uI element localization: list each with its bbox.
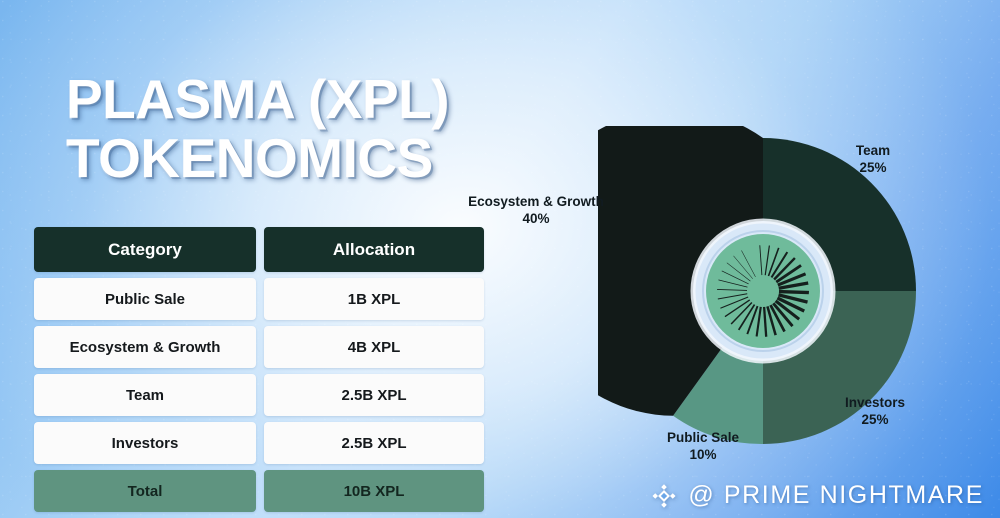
cell-allocation: 4B XPL xyxy=(264,326,484,368)
table-total-row: Total 10B XPL xyxy=(34,470,484,512)
cell-total-value: 10B XPL xyxy=(264,470,484,512)
table-header-row: Category Allocation xyxy=(34,227,484,272)
table-row: Ecosystem & Growth 4B XPL xyxy=(34,326,484,368)
chart-label-team: Team 25% xyxy=(828,142,918,176)
chart-label-investors: Investors 25% xyxy=(820,394,930,428)
cell-category: Investors xyxy=(34,422,256,464)
cell-allocation: 1B XPL xyxy=(264,278,484,320)
header-allocation: Allocation xyxy=(264,227,484,272)
cell-allocation: 2.5B XPL xyxy=(264,422,484,464)
chart-label-team-name: Team xyxy=(828,142,918,159)
title-line-2: TOKENOMICS xyxy=(66,129,536,188)
cell-category: Public Sale xyxy=(34,278,256,320)
chart-label-public-sale-percent: 10% xyxy=(643,446,763,463)
cell-category: Ecosystem & Growth xyxy=(34,326,256,368)
binance-diamond-icon xyxy=(650,482,678,510)
header-category: Category xyxy=(34,227,256,272)
title-line-1: PLASMA (XPL) xyxy=(66,70,536,129)
table-row: Investors 2.5B XPL xyxy=(34,422,484,464)
tokenomics-table: Category Allocation Public Sale 1B XPL E… xyxy=(34,227,484,518)
chart-label-public-sale-name: Public Sale xyxy=(643,429,763,446)
table-row: Public Sale 1B XPL xyxy=(34,278,484,320)
chart-label-investors-percent: 25% xyxy=(820,411,930,428)
chart-label-ecosystem-name: Ecosystem & Growth xyxy=(446,193,626,210)
chart-label-ecosystem-percent: 40% xyxy=(446,210,626,227)
chart-label-investors-name: Investors xyxy=(820,394,930,411)
infographic-canvas: PLASMA (XPL) TOKENOMICS Category Allocat… xyxy=(0,0,1000,518)
table-row: Team 2.5B XPL xyxy=(34,374,484,416)
page-title: PLASMA (XPL) TOKENOMICS xyxy=(66,70,536,188)
chart-label-ecosystem: Ecosystem & Growth 40% xyxy=(446,193,626,227)
watermark-handle: @ PRIME NIGHTMARE xyxy=(688,481,984,510)
cell-category: Team xyxy=(34,374,256,416)
cell-total-label: Total xyxy=(34,470,256,512)
chart-label-team-percent: 25% xyxy=(828,159,918,176)
chart-label-public-sale: Public Sale 10% xyxy=(643,429,763,463)
cell-allocation: 2.5B XPL xyxy=(264,374,484,416)
watermark: @ PRIME NIGHTMARE xyxy=(650,481,984,510)
